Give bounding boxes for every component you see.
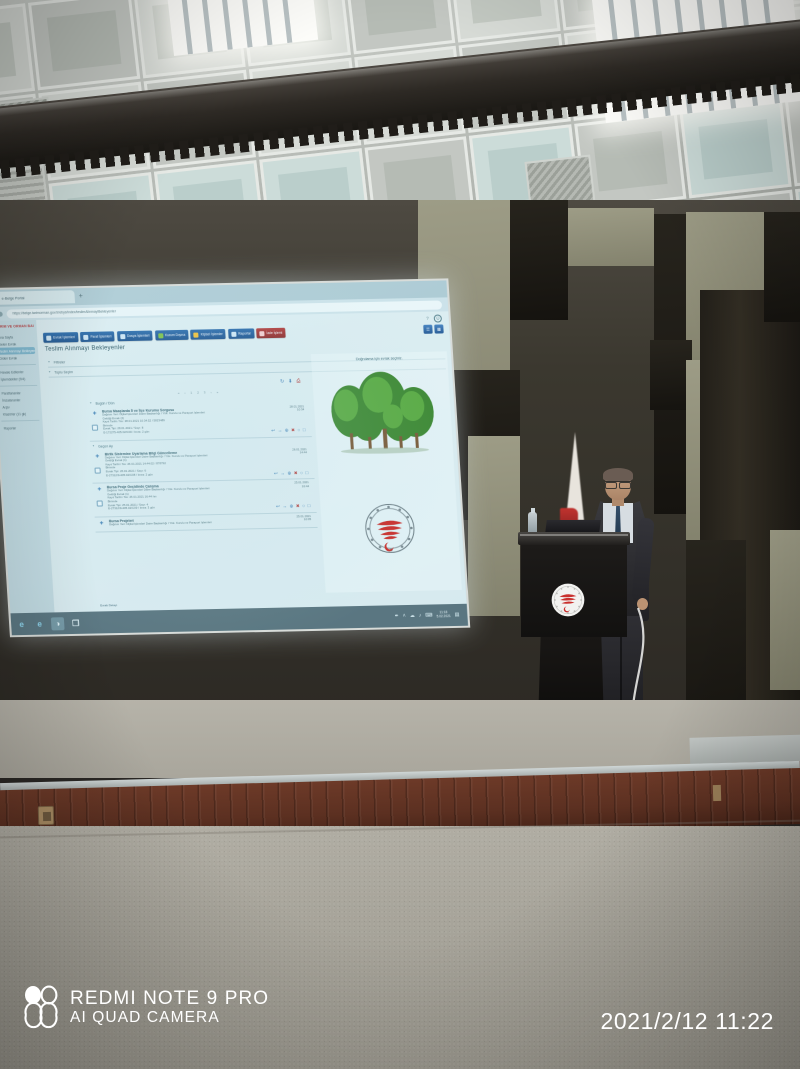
- notifications-icon[interactable]: ▤: [455, 612, 460, 618]
- back-button[interactable]: [0, 311, 3, 316]
- web-application: TARIM VE ORMAN BAKANLIĞI Ana Sayfa Gelen…: [0, 311, 467, 613]
- document-preview-pane: Doğrulama için evrak seçiniz.: [311, 351, 462, 592]
- refresh-icon[interactable]: ↻: [280, 379, 285, 385]
- attach-icon[interactable]: ⊕: [287, 471, 291, 476]
- forward-icon[interactable]: →: [278, 429, 283, 434]
- app-main-pane: ? ☺ Evrak İşlemleri Paraf İşlemleri: [36, 311, 467, 612]
- forward-icon[interactable]: →: [282, 505, 287, 510]
- row-date-time: 14:44: [292, 451, 307, 455]
- table-row[interactable]: ✚ 25.01.2021 10:05 Bursa Projeleri Dağıt…: [95, 513, 318, 533]
- attach-icon[interactable]: ⊕: [289, 505, 293, 510]
- delete-icon[interactable]: ✖: [294, 471, 298, 476]
- toolbar-button-kisisel-islemler[interactable]: Kişisel İşlemler: [190, 329, 226, 340]
- row-date: 26.01.2021 14:44: [292, 448, 307, 455]
- toolbar-button-label: İade İşlemi: [266, 331, 282, 335]
- table-row[interactable]: ✚ 28.01.2021 10:34 Bursa Maaşlarda İl ve…: [88, 403, 312, 441]
- user-avatar-icon[interactable]: ☺: [434, 314, 443, 322]
- row-checkbox[interactable]: [97, 501, 103, 507]
- photograph-conference-hall: e-Belge Portal + https://belge.tarimorma…: [0, 0, 800, 1069]
- sidebar-item-giden-evrak[interactable]: Giden Evrak: [0, 354, 36, 362]
- redmi-dual-circle-logo: [24, 984, 58, 1030]
- export-excel-icon[interactable]: ⬇: [288, 379, 293, 385]
- row-action-group: ↩ → ⊕ ✖ ○ □: [274, 471, 309, 476]
- pager-first[interactable]: «: [177, 391, 181, 395]
- stamp-icon: [83, 334, 88, 339]
- undo-icon: [259, 331, 264, 336]
- network-icon[interactable]: ☁: [410, 613, 415, 619]
- floor-power-outlet: [38, 806, 55, 825]
- pager-page-2[interactable]: 2: [196, 390, 200, 394]
- file-explorer-icon[interactable]: ❐: [69, 616, 83, 629]
- toolbar-button-raporlar[interactable]: Raporlar: [228, 328, 254, 339]
- sidebar-item-raporlar[interactable]: Raporlar: [2, 424, 40, 432]
- row-action-group: ↩ → ⊕ ✖ ○ □: [271, 428, 306, 433]
- clock-date: 5.02.2021: [437, 615, 451, 619]
- pager-page-3[interactable]: 3: [203, 390, 207, 394]
- sidebar-item-islemdekiler[interactable]: İşlemdekiler (9/4): [0, 375, 37, 383]
- edge-icon[interactable]: e: [15, 617, 29, 630]
- history-icon[interactable]: ○: [300, 471, 303, 476]
- taskbar-clock[interactable]: 11:18 5.02.2021: [436, 611, 451, 618]
- internet-explorer-icon[interactable]: e: [33, 617, 47, 630]
- toolbar-button-iade-islemi[interactable]: İade İşlemi: [256, 328, 286, 339]
- sidebar-divider: [0, 385, 37, 387]
- grid-view-toggle[interactable]: ▦: [434, 324, 444, 333]
- row-date-time: 10:34: [290, 409, 305, 413]
- history-icon[interactable]: ○: [297, 428, 300, 433]
- new-tab-button[interactable]: +: [78, 293, 83, 300]
- toolbar-button-kurum-disina[interactable]: Kurum Dışına: [155, 330, 189, 341]
- eyeglasses-icon: [605, 481, 631, 486]
- toolbar-button-label: Paraf İşlemleri: [90, 334, 111, 338]
- podium-top: [518, 532, 630, 545]
- history-icon[interactable]: ○: [302, 504, 305, 509]
- toolbar-button-label: Dosya İşlemleri: [127, 334, 150, 338]
- help-icon[interactable]: ?: [426, 316, 429, 321]
- turkish-flag-furled: [566, 432, 584, 520]
- user-icon: [194, 332, 199, 337]
- print-icon[interactable]: ⎙: [296, 378, 300, 384]
- toolbar-button-dosya-islemleri[interactable]: Dosya İşlemleri: [117, 331, 153, 342]
- watermark-timestamp: 2021/2/12 11:22: [600, 1008, 774, 1035]
- status-text: Evrak Detayı: [100, 603, 117, 607]
- row-date: 28.01.2021 10:34: [290, 405, 305, 412]
- folder-icon: [120, 334, 125, 339]
- open-icon[interactable]: □: [307, 504, 310, 509]
- camera-watermark: REDMI NOTE 9 PRO AI QUAD CAMERA: [24, 984, 269, 1030]
- projection-screen: e-Belge Portal + https://belge.tarimorma…: [0, 278, 470, 637]
- open-icon[interactable]: □: [303, 428, 306, 433]
- browser-active-icon[interactable]: ◑: [51, 617, 65, 630]
- document-list-pane[interactable]: ↻ ⬇ ⎙ « ‹ 1 2 3 › » Bu: [86, 376, 322, 597]
- toolbar-button-label: Evrak İşlemleri: [53, 335, 75, 339]
- open-icon[interactable]: □: [305, 471, 308, 476]
- page-title: Teslim Alınmayı Bekleyenler: [45, 345, 126, 353]
- document-icon: [46, 335, 51, 340]
- system-tray: ✒ ˄ ☁ ♪ ⌨ 11:18 5.02.2021 ▤: [394, 611, 463, 620]
- row-checkbox[interactable]: [94, 467, 100, 473]
- projected-desktop: e-Belge Portal + https://belge.tarimorma…: [0, 280, 468, 635]
- hair: [603, 468, 633, 481]
- table-row[interactable]: ✚ 25.01.2021 16:44 Bursa Proje Geçidinde…: [93, 479, 317, 517]
- pen-icon[interactable]: ✒: [394, 613, 399, 619]
- show-hidden-icons-icon[interactable]: ˄: [403, 613, 406, 619]
- watermark-text: REDMI NOTE 9 PRO AI QUAD CAMERA: [70, 988, 269, 1027]
- sidebar-item-klasorler[interactable]: Klasörler (11 gk): [1, 410, 39, 418]
- pager-prev[interactable]: ‹: [183, 391, 186, 395]
- toolbar-button-label: Kurum Dışına: [165, 333, 185, 337]
- pin-icon[interactable]: ✚: [92, 411, 97, 416]
- toolbar-button-label: Kişisel İşlemler: [201, 332, 223, 336]
- pin-icon[interactable]: ✚: [97, 487, 102, 492]
- row-action-group: ↩ → ⊕ ✖ ○ □: [276, 504, 311, 509]
- preview-hint-text: Doğrulama için evrak seçiniz.: [311, 355, 447, 362]
- reply-icon[interactable]: ↩: [271, 429, 275, 434]
- language-icon[interactable]: ⌨: [425, 612, 433, 618]
- reply-icon[interactable]: ↩: [276, 505, 280, 510]
- pager-next[interactable]: ›: [209, 390, 212, 394]
- camera-name: AI QUAD CAMERA: [70, 1009, 269, 1026]
- row-checkbox[interactable]: [92, 425, 98, 431]
- toolbar-button-label: Raporlar: [238, 331, 251, 335]
- forest-trees-illustration: [324, 370, 441, 458]
- toolbar-button-evrak-islemleri[interactable]: Evrak İşlemleri: [43, 332, 78, 343]
- sidebar-divider: [1, 420, 39, 422]
- attach-icon[interactable]: ⊕: [285, 429, 289, 434]
- delete-icon[interactable]: ✖: [296, 504, 300, 509]
- chart-icon: [231, 331, 236, 336]
- toolbar-button-paraf-islemleri[interactable]: Paraf İşlemleri: [80, 331, 115, 342]
- pin-icon[interactable]: ✚: [99, 520, 104, 525]
- device-name: REDMI NOTE 9 PRO: [70, 988, 269, 1009]
- row-date-time: 10:05: [297, 518, 312, 522]
- view-toggle-group: ☰ ▦: [423, 324, 444, 333]
- brand-label: TARIM VE ORMAN BAKANLIĞI: [0, 324, 34, 329]
- table-row[interactable]: ✚ 26.01.2021 14:44 Birlik Sistemine Uyar…: [90, 446, 314, 484]
- delete-icon[interactable]: ✖: [291, 428, 295, 433]
- send-icon: [158, 333, 163, 338]
- forward-icon[interactable]: →: [280, 471, 285, 476]
- pager-page-1[interactable]: 1: [189, 391, 193, 395]
- pin-icon[interactable]: ✚: [95, 453, 100, 458]
- list-view-toggle[interactable]: ☰: [423, 325, 433, 334]
- floor-power-outlet: [713, 785, 721, 801]
- row-date: 25.01.2021 10:05: [296, 515, 311, 522]
- row-date-time: 16:44: [295, 485, 310, 489]
- water-bottle: [528, 512, 537, 534]
- pager-last[interactable]: »: [215, 390, 219, 394]
- browser-tab[interactable]: e-Belge Portal: [0, 290, 75, 305]
- turkish-ministry-emblem: [362, 502, 417, 555]
- reply-icon[interactable]: ↩: [274, 471, 278, 476]
- row-date: 25.01.2021 16:44: [294, 481, 309, 488]
- volume-icon[interactable]: ♪: [419, 613, 422, 619]
- sidebar-divider: [0, 364, 36, 366]
